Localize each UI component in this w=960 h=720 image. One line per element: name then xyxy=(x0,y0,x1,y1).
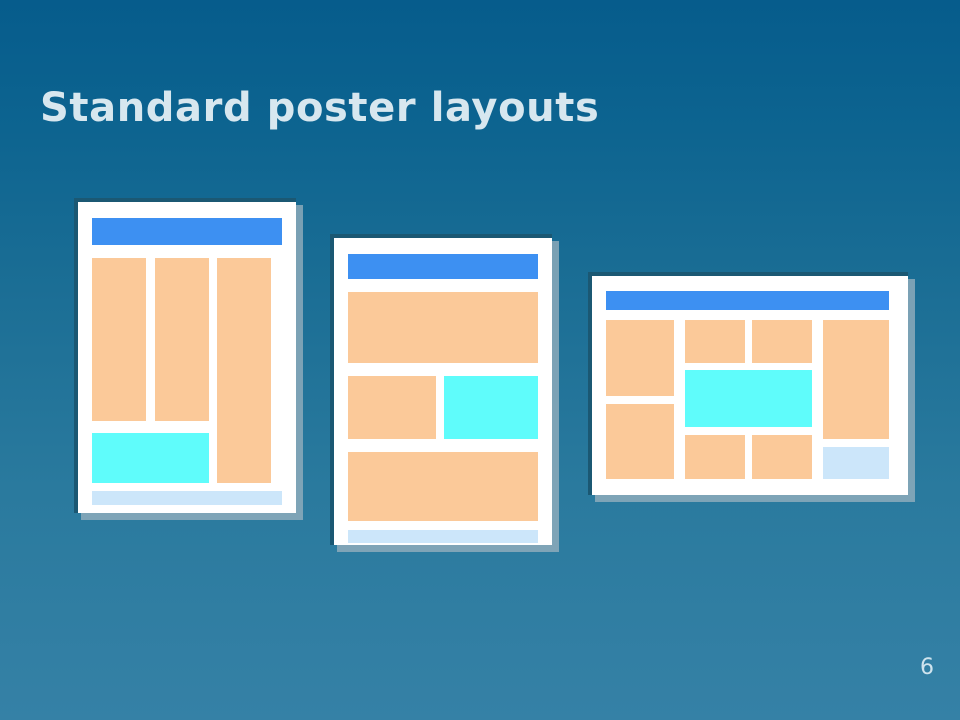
poster-block-header-bar xyxy=(606,291,889,311)
poster-layout-landscape-modular[interactable] xyxy=(588,272,908,495)
poster-block-header-bar xyxy=(92,218,283,245)
poster-canvas xyxy=(592,276,908,495)
poster-block-center-top-left xyxy=(685,320,745,362)
page-title: Standard poster layouts xyxy=(40,85,599,131)
poster-block-column-1-body xyxy=(92,258,146,421)
poster-layout-portrait-three-column[interactable] xyxy=(74,198,296,513)
poster-canvas xyxy=(78,202,296,513)
poster-block-right-column-body xyxy=(823,320,889,439)
poster-block-column-2-body xyxy=(155,258,209,421)
poster-block-band-3-body xyxy=(348,452,539,520)
poster-block-left-lower-body xyxy=(606,404,674,480)
poster-block-footer-bar xyxy=(92,491,283,505)
poster-block-left-upper-body xyxy=(606,320,674,396)
poster-canvas xyxy=(334,238,552,545)
poster-block-center-top-right xyxy=(752,320,812,362)
poster-block-center-bottom-left xyxy=(685,435,745,479)
slide-canvas: Standard poster layouts 6 xyxy=(0,0,960,720)
poster-block-footer-bar xyxy=(348,530,539,543)
poster-block-highlight-figure xyxy=(92,433,209,483)
poster-block-right-footer-bar xyxy=(823,447,889,479)
poster-block-center-bottom-right xyxy=(752,435,812,479)
poster-block-center-highlight xyxy=(685,370,812,427)
poster-block-band-1-body xyxy=(348,292,539,364)
poster-layout-portrait-banded[interactable] xyxy=(330,234,552,545)
poster-block-column-3-body xyxy=(217,258,271,483)
poster-block-band-2-left-body xyxy=(348,376,436,439)
poster-block-header-bar xyxy=(348,254,539,279)
page-number: 6 xyxy=(920,655,934,680)
poster-block-band-2-highlight xyxy=(444,376,538,439)
